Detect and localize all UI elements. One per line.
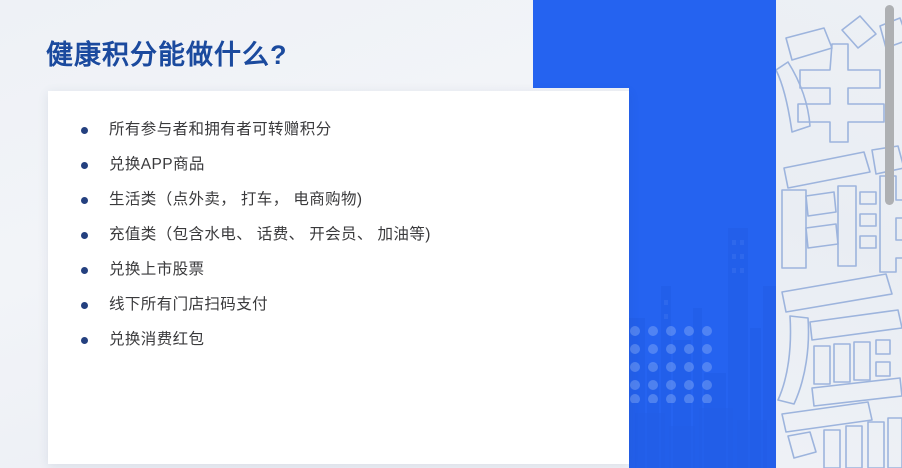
- bullet-dot-icon: [81, 267, 88, 274]
- list-item-label: 兑换APP商品: [109, 147, 205, 182]
- bullet-dot-icon: [81, 337, 88, 344]
- outlined-chinese-characters: [776, 0, 902, 468]
- list-item: 充值类（包含水电、 话费、 开会员、 加油等): [48, 217, 629, 252]
- list-item-label: 线下所有门店扫码支付: [109, 287, 268, 322]
- vertical-scrollbar-thumb[interactable]: [885, 5, 894, 205]
- bullet-dot-icon: [81, 232, 88, 239]
- city-skyline-silhouette: [629, 168, 776, 468]
- list-item-label: 兑换上市股票: [109, 252, 204, 287]
- list-item: 兑换上市股票: [48, 252, 629, 287]
- list-item-label: 所有参与者和拥有者可转赠积分: [109, 112, 332, 147]
- list-item: 兑换APP商品: [48, 147, 629, 182]
- dot-grid-pattern: [629, 325, 725, 403]
- bullet-dot-icon: [81, 127, 88, 134]
- list-item: 所有参与者和拥有者可转赠积分: [48, 112, 629, 147]
- list-item-label: 兑换消费红包: [109, 322, 204, 357]
- list-item-label: 充值类（包含水电、 话费、 开会员、 加油等): [109, 217, 431, 252]
- bullet-dot-icon: [81, 197, 88, 204]
- bullet-dot-icon: [81, 302, 88, 309]
- bullet-dot-icon: [81, 162, 88, 169]
- page-title: 健康积分能做什么?: [46, 33, 288, 72]
- bullet-list: 所有参与者和拥有者可转赠积分 兑换APP商品 生活类（点外卖， 打车， 电商购物…: [48, 112, 629, 357]
- list-item-label: 生活类（点外卖， 打车， 电商购物): [109, 182, 362, 217]
- list-item: 兑换消费红包: [48, 322, 629, 357]
- list-item: 线下所有门店扫码支付: [48, 287, 629, 322]
- list-item: 生活类（点外卖， 打车， 电商购物): [48, 182, 629, 217]
- vertical-scrollbar-track[interactable]: [887, 0, 899, 468]
- content-card: 所有参与者和拥有者可转赠积分 兑换APP商品 生活类（点外卖， 打车， 电商购物…: [48, 91, 629, 464]
- slide-canvas: 健康积分能做什么? 所有参与者和拥有者可转赠积分 兑换APP商品 生活类（点外卖…: [0, 0, 902, 468]
